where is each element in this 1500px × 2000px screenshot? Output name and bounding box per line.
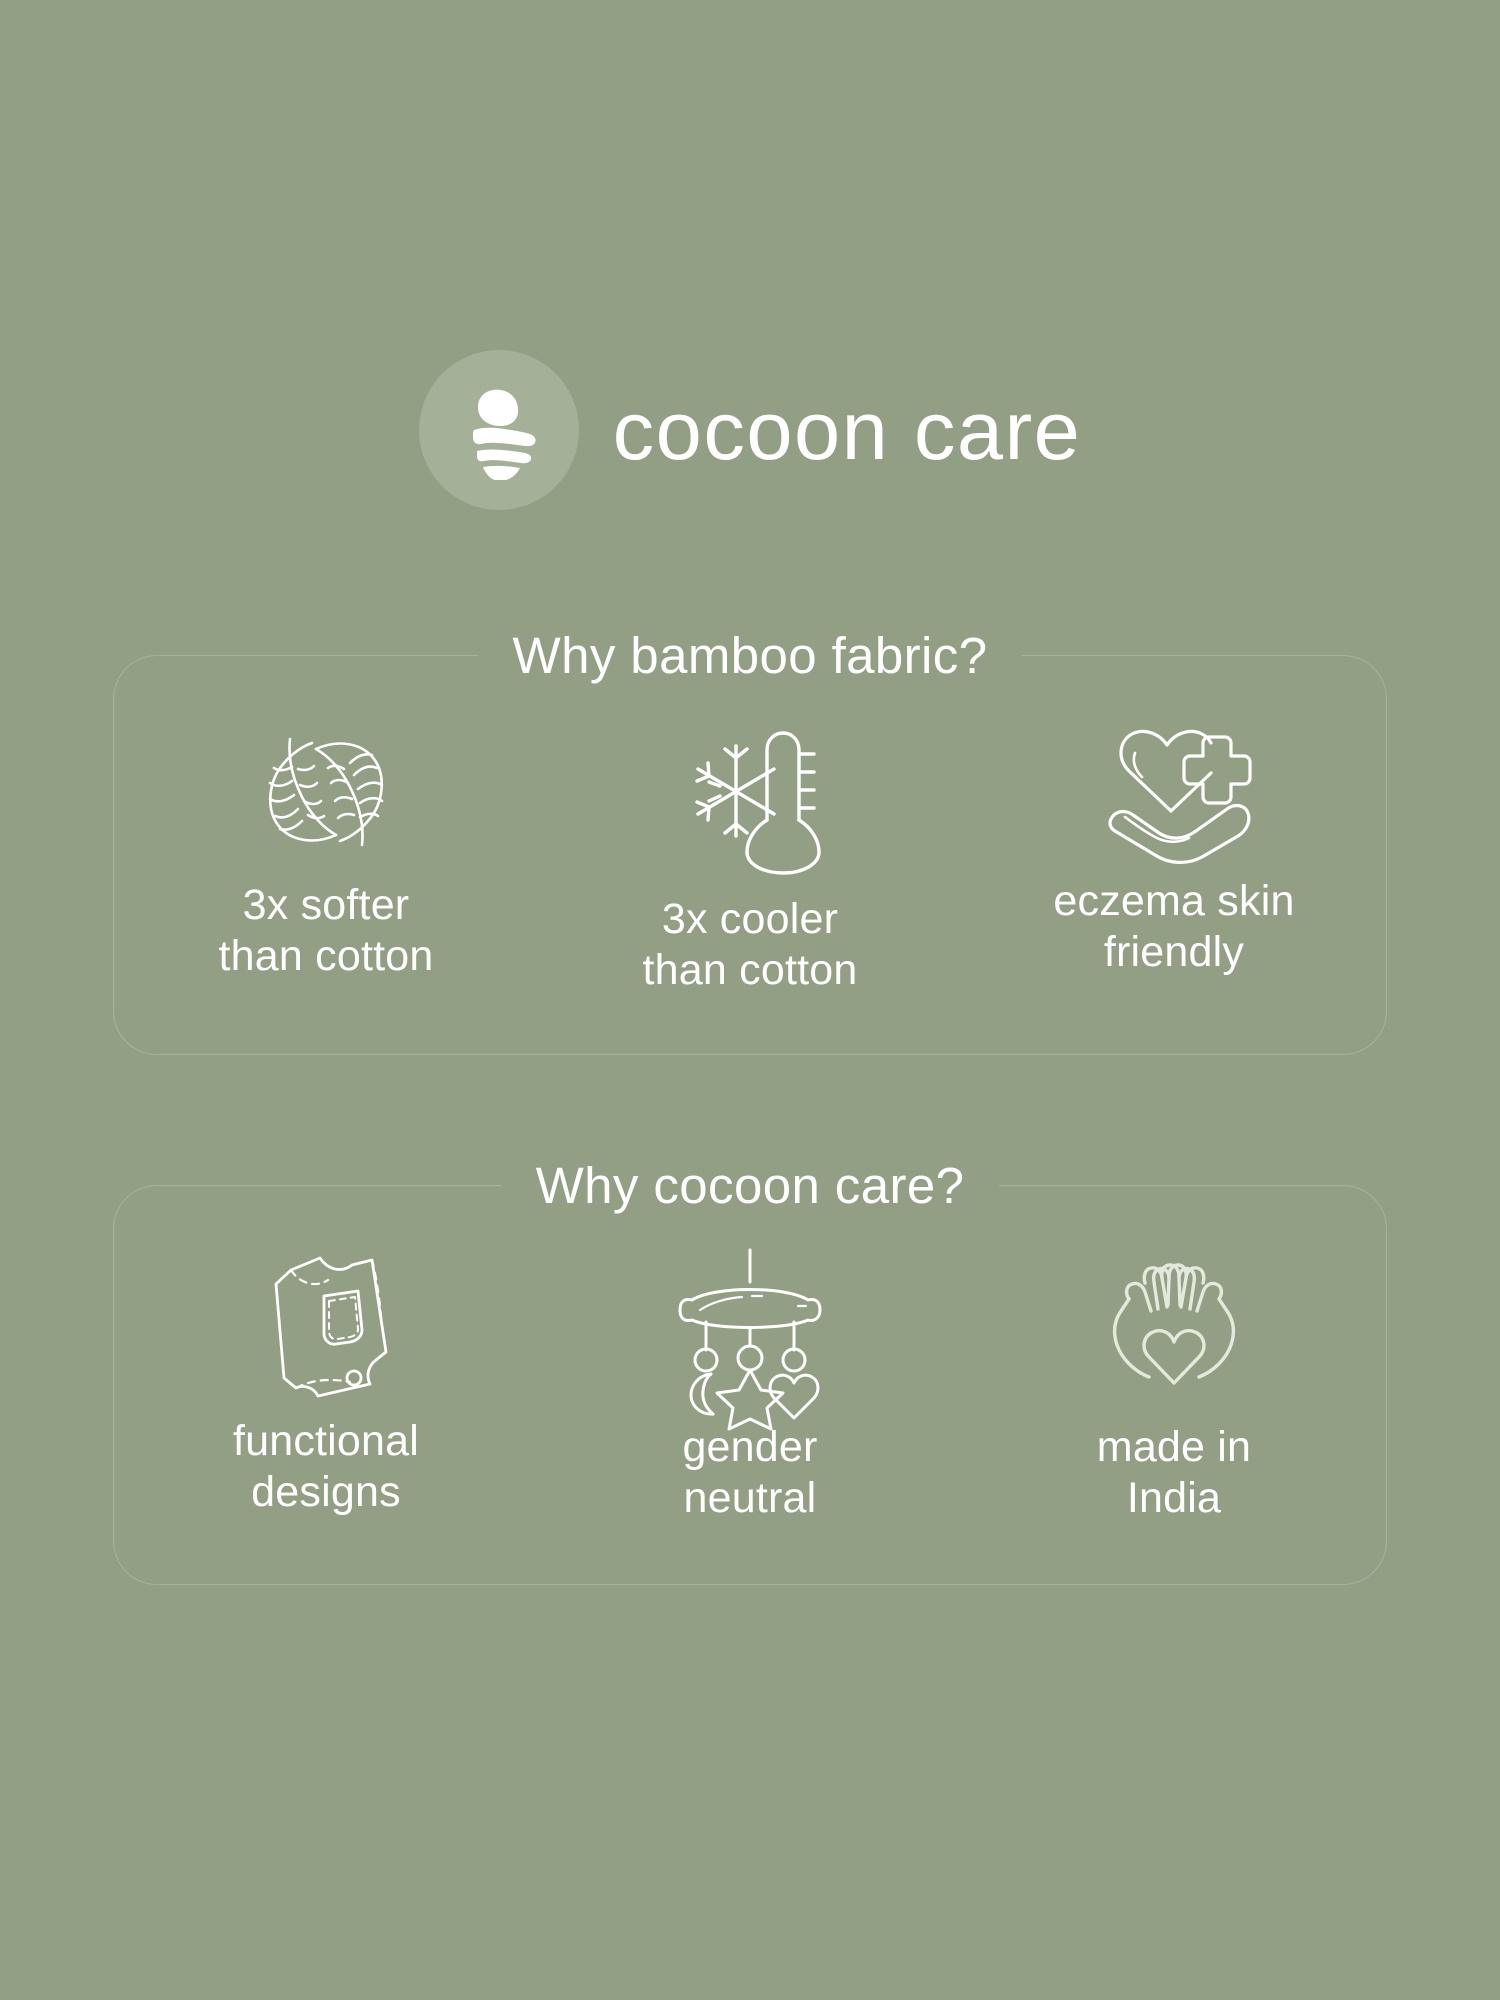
feature-label: gender neutral [682,1422,817,1523]
feathers-icon [250,718,402,868]
feature-eczema-friendly: eczema skin friendly [962,718,1386,977]
feature-label: 3x softer than cotton [219,880,434,981]
brand-name: cocoon care [613,389,1082,472]
baby-onesie-icon [258,1248,394,1398]
hand-heart-cross-icon [1099,718,1249,868]
crib-mobile-icon [670,1248,830,1398]
feature-grid-cocoon: functional designs [114,1186,1386,1584]
feature-3x-softer: 3x softer than cotton [114,718,538,981]
feature-grid-bamboo: 3x softer than cotton [114,656,1386,1054]
cocoon-logo-icon [447,376,551,485]
section-card-bamboo: Why bamboo fabric? [113,655,1387,1055]
feature-label: 3x cooler than cotton [643,894,858,995]
feature-made-in-india: made in India [962,1248,1386,1523]
feature-gender-neutral: gender neutral [538,1248,962,1523]
feature-label: eczema skin friendly [1053,876,1294,977]
feature-label: made in India [1097,1422,1251,1523]
section-card-cocoon: Why cocoon care? [113,1185,1387,1585]
feature-label: functional designs [233,1416,419,1517]
poster-canvas: cocoon care Why bamboo fabric? [0,0,1500,2000]
feature-3x-cooler: 3x cooler than cotton [538,718,962,995]
thermometer-snowflake-icon [690,718,810,880]
brand-logo-mark [419,350,579,510]
brand-header: cocoon care [0,350,1500,510]
hands-heart-icon [1099,1248,1249,1398]
feature-functional-designs: functional designs [114,1248,538,1517]
